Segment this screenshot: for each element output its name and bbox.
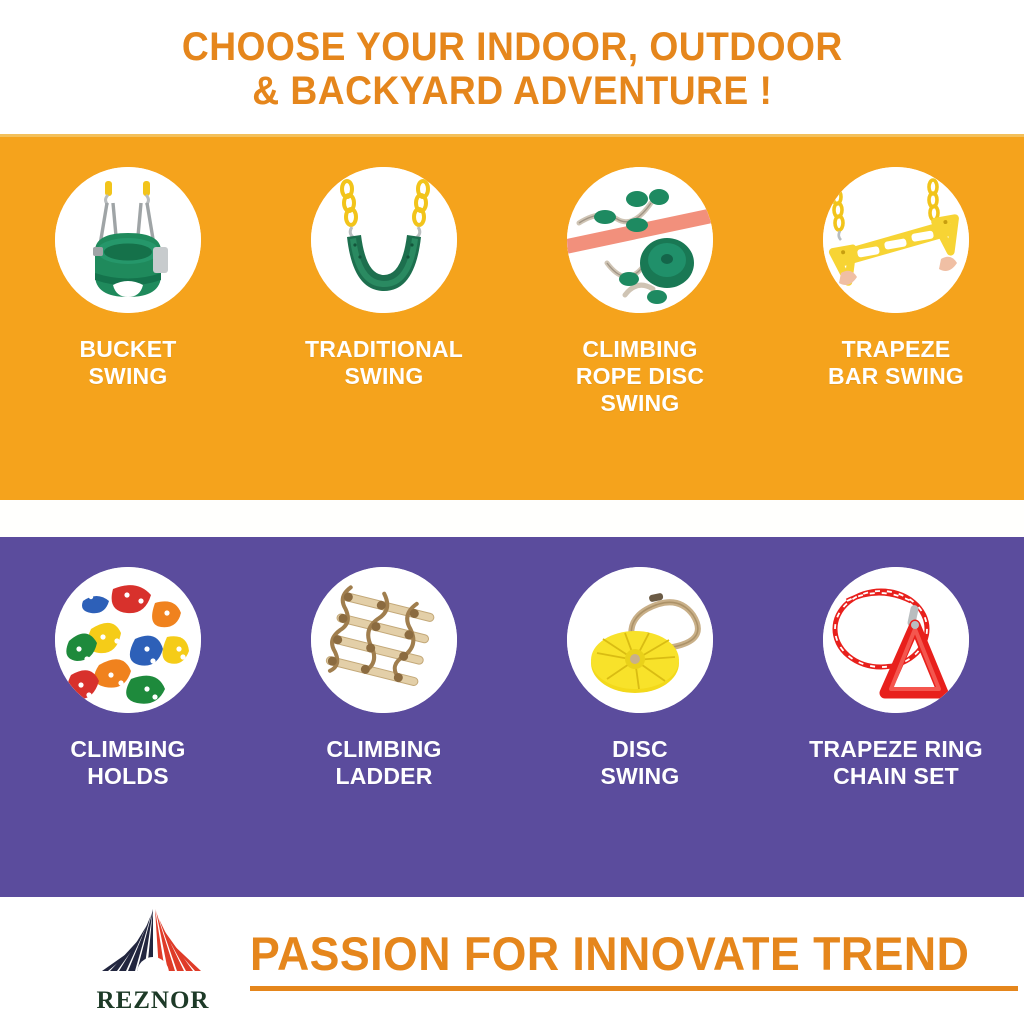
label-line: SWING xyxy=(79,363,176,390)
tagline-text: PASSION FOR INNOVATE TREND xyxy=(250,930,980,977)
infographic-page: CHOOSE YOUR INDOOR, OUTDOOR & BACKYARD A… xyxy=(0,0,1024,1024)
label-line: LADDER xyxy=(326,763,441,790)
product-label: TRAPEZE RING CHAIN SET xyxy=(809,736,983,790)
label-line: CLIMBING xyxy=(70,736,185,763)
label-line: BAR SWING xyxy=(828,363,964,390)
bucket-swing-icon xyxy=(55,167,201,313)
label-line: TRAPEZE xyxy=(828,336,964,363)
climbing-ladder-icon xyxy=(311,567,457,713)
reznor-pyramid-logo-icon xyxy=(99,907,207,985)
reznor-logo[interactable]: REZNOR xyxy=(78,907,228,1015)
tagline-underline xyxy=(250,986,1018,991)
tagline-block: PASSION FOR INNOVATE TREND xyxy=(250,930,1024,991)
product-label: CLIMBING ROPE DISC SWING xyxy=(576,336,704,417)
label-line: SWING xyxy=(305,363,463,390)
trapeze-ring-chain-set-icon xyxy=(823,567,969,713)
label-line: DISC xyxy=(601,736,680,763)
footer: REZNOR PASSION FOR INNOVATE TREND xyxy=(0,897,1024,1024)
trapeze-bar-swing-icon xyxy=(823,167,969,313)
swings-row: BUCKET SWING xyxy=(0,137,1024,500)
label-line: TRAPEZE RING xyxy=(809,736,983,763)
climbing-row: CLIMBING HOLDS xyxy=(0,537,1024,897)
product-traditional-swing[interactable]: TRADITIONAL SWING xyxy=(269,167,499,390)
label-line: SWING xyxy=(576,390,704,417)
product-trapeze-bar-swing[interactable]: TRAPEZE BAR SWING xyxy=(781,167,1011,390)
page-title-line-2: & BACKYARD ADVENTURE ! xyxy=(182,69,843,113)
product-label: CLIMBING LADDER xyxy=(326,736,441,790)
label-line: CLIMBING xyxy=(326,736,441,763)
swings-row-band: BUCKET SWING xyxy=(0,137,1024,500)
label-line: ROPE DISC xyxy=(576,363,704,390)
label-line: TRADITIONAL xyxy=(305,336,463,363)
product-label: TRAPEZE BAR SWING xyxy=(828,336,964,390)
label-line: SWING xyxy=(601,763,680,790)
product-trapeze-ring-chain-set[interactable]: TRAPEZE RING CHAIN SET xyxy=(781,567,1011,790)
product-climbing-rope-disc-swing[interactable]: CLIMBING ROPE DISC SWING xyxy=(525,167,755,417)
label-line: CLIMBING xyxy=(576,336,704,363)
traditional-swing-icon xyxy=(311,167,457,313)
climbing-rope-disc-swing-icon xyxy=(567,167,713,313)
product-label: TRADITIONAL SWING xyxy=(305,336,463,390)
climbing-row-band: CLIMBING HOLDS xyxy=(0,537,1024,897)
reznor-wordmark: REZNOR xyxy=(97,987,210,1015)
disc-swing-icon xyxy=(567,567,713,713)
label-line: CHAIN SET xyxy=(809,763,983,790)
product-climbing-ladder[interactable]: CLIMBING LADDER xyxy=(269,567,499,790)
page-title: CHOOSE YOUR INDOOR, OUTDOOR & BACKYARD A… xyxy=(182,25,843,113)
product-bucket-swing[interactable]: BUCKET SWING xyxy=(13,167,243,390)
product-label: DISC SWING xyxy=(601,736,680,790)
label-line: HOLDS xyxy=(70,763,185,790)
climbing-holds-icon xyxy=(55,567,201,713)
header: CHOOSE YOUR INDOOR, OUTDOOR & BACKYARD A… xyxy=(0,0,1024,137)
product-disc-swing[interactable]: DISC SWING xyxy=(525,567,755,790)
page-title-line-1: CHOOSE YOUR INDOOR, OUTDOOR xyxy=(182,25,843,69)
product-label: BUCKET SWING xyxy=(79,336,176,390)
label-line: BUCKET xyxy=(79,336,176,363)
product-climbing-holds[interactable]: CLIMBING HOLDS xyxy=(13,567,243,790)
product-label: CLIMBING HOLDS xyxy=(70,736,185,790)
